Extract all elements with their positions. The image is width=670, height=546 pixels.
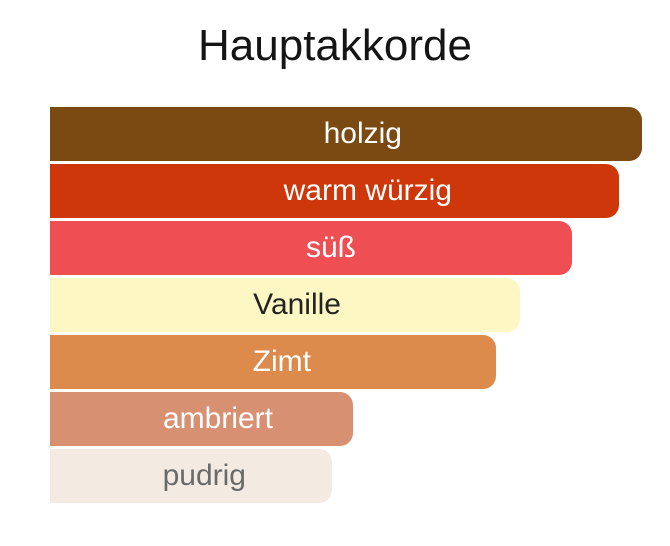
- bar-row[interactable]: Zimt: [50, 335, 496, 389]
- bar-row[interactable]: Vanille: [50, 278, 520, 332]
- bar-chart-plot-area: holzigwarm würzigsüßVanilleZimtambriertp…: [0, 0, 670, 546]
- bar-warm-würzig[interactable]: [50, 164, 619, 218]
- chart-container: Hauptakkorde holzigwarm würzigsüßVanille…: [0, 0, 670, 546]
- bar-row[interactable]: holzig: [50, 107, 642, 161]
- bar-süß[interactable]: [50, 221, 572, 275]
- bar-row[interactable]: süß: [50, 221, 572, 275]
- bar-row[interactable]: pudrig: [50, 449, 332, 503]
- bar-row[interactable]: ambriert: [50, 392, 353, 446]
- bar-zimt[interactable]: [50, 335, 496, 389]
- bar-row[interactable]: warm würzig: [50, 164, 619, 218]
- bar-holzig[interactable]: [50, 107, 642, 161]
- bar-vanille[interactable]: [50, 278, 520, 332]
- bar-ambriert[interactable]: [50, 392, 353, 446]
- bar-pudrig[interactable]: [50, 449, 332, 503]
